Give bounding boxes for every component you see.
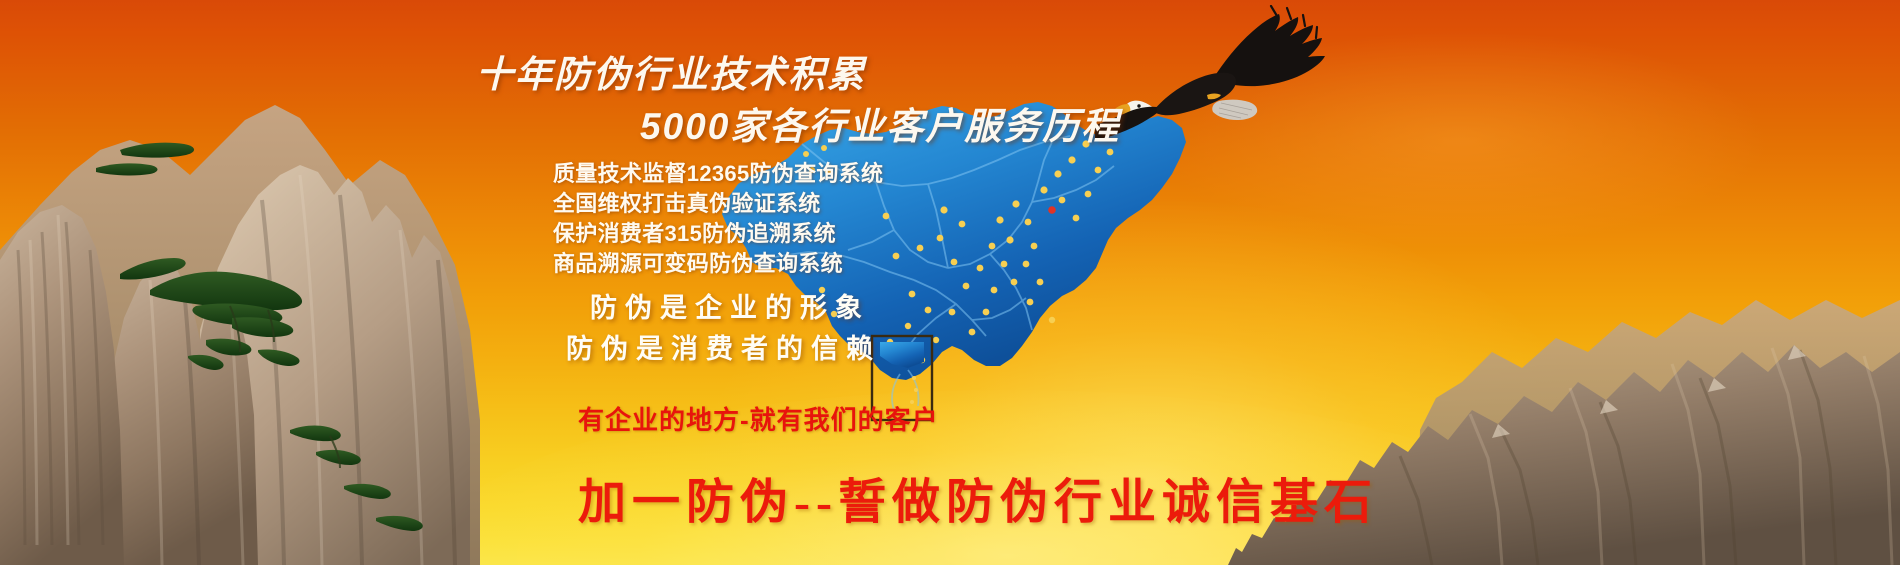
system-line-1: 质量技术监督12365防伪查询系统: [553, 156, 883, 188]
right-far-ridge: [1416, 300, 1900, 565]
system-line-4: 商品溯源可变码防伪查询系统: [553, 246, 843, 278]
right-range-highlights: [1470, 348, 1892, 565]
tagline: 有企业的地方-就有我们的客户: [578, 400, 939, 437]
left-cluster-shadows: [185, 195, 455, 565]
headline-line-1: 十年防伪行业技术积累: [476, 44, 866, 98]
right-snow-caps: [1492, 345, 1806, 438]
promo-banner: 十年防伪行业技术积累 5000家各行业客户服务历程 质量技术监督12365防伪查…: [0, 0, 1900, 565]
left-far-ridge: [0, 105, 480, 565]
left-foreground-cliff: [0, 205, 124, 565]
right-main-range: [1228, 345, 1900, 565]
eagle-icon: [1095, 5, 1330, 140]
left-cliff-striations: [18, 222, 103, 545]
left-pine-trunks: [230, 306, 340, 468]
left-cliff-highlights: [30, 175, 422, 565]
left-peak-cluster: [200, 165, 470, 565]
slogan-line-1: 防伪是企业的形象: [590, 286, 870, 325]
headline-line-2: 5000家各行业客户服务历程: [640, 96, 1120, 150]
system-line-3: 保护消费者315防伪追溯系统: [553, 216, 836, 248]
left-mid-pinnacles: [100, 262, 258, 565]
system-line-2: 全国维权打击真伪验证系统: [553, 186, 821, 218]
footer-headline: 加一防伪--誓做防伪行业诚信基石: [578, 462, 1378, 532]
slogan-line-2: 防伪是消费者的信赖: [566, 327, 881, 366]
right-range-shading: [1400, 350, 1836, 565]
left-pine-cluster: [96, 143, 423, 531]
